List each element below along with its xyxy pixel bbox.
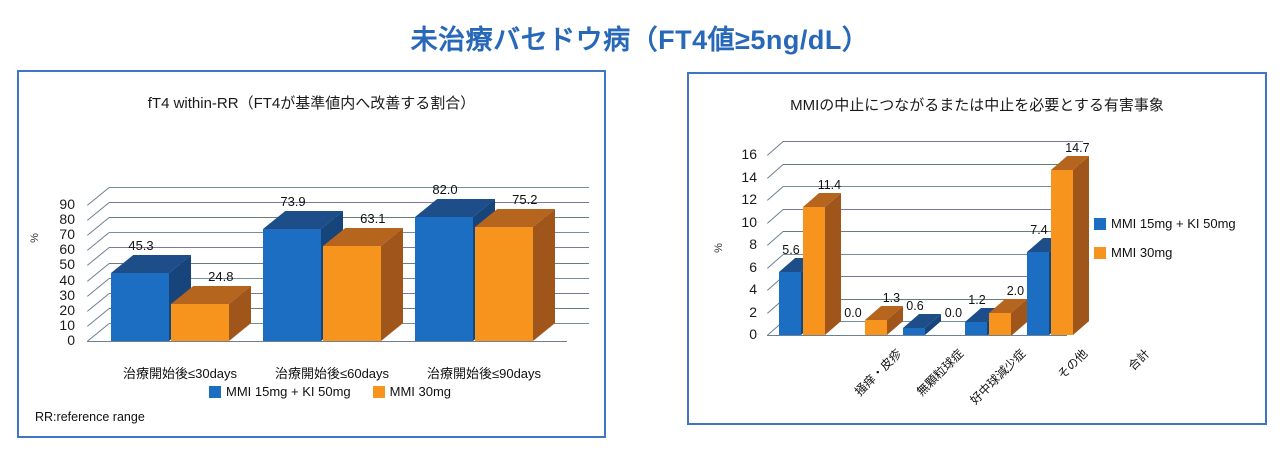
bar-mmi-discontinuation-ae-0-0 bbox=[779, 258, 801, 335]
bar-value-label: 63.1 bbox=[337, 211, 409, 226]
y-tick-label: 4 bbox=[717, 281, 757, 297]
axis-depth-line bbox=[767, 141, 784, 156]
axis-depth-line bbox=[87, 323, 110, 342]
bar-value-label: 24.8 bbox=[185, 269, 257, 284]
left-chart-plot-area: 010203040506070809045.324.8治療開始後≤30days7… bbox=[19, 72, 604, 436]
bar-ft4-within-rr-1-1 bbox=[323, 228, 381, 341]
legend-label-mmi-ki: MMI 15mg + KI 50mg bbox=[1111, 216, 1236, 231]
y-tick-label: 80 bbox=[35, 211, 75, 227]
bar-front-face bbox=[965, 322, 987, 336]
bar-value-label: 11.4 bbox=[811, 178, 847, 192]
y-tick-label: 12 bbox=[717, 191, 757, 207]
bar-mmi-discontinuation-ae-2-0 bbox=[903, 314, 925, 335]
grid-line bbox=[109, 187, 589, 188]
bar-value-label: 0.6 bbox=[897, 299, 933, 313]
bar-value-label: 75.2 bbox=[489, 192, 561, 207]
y-tick-label: 40 bbox=[35, 272, 75, 288]
bar-value-label: 73.9 bbox=[257, 194, 329, 209]
bar-front-face bbox=[475, 227, 533, 341]
bar-ft4-within-rr-0-1 bbox=[171, 286, 229, 341]
bar-ft4-within-rr-2-1 bbox=[475, 209, 533, 341]
y-tick-label: 0 bbox=[35, 332, 75, 348]
y-tick-label: 2 bbox=[717, 304, 757, 320]
legend-swatch-mmi-ki bbox=[209, 386, 221, 398]
bar-ft4-within-rr-0-0 bbox=[111, 255, 169, 341]
bar-mmi-discontinuation-ae-4-1 bbox=[1051, 156, 1073, 335]
bar-ft4-within-rr-1-0 bbox=[263, 211, 321, 341]
left-chart-legend: MMI 15mg + KI 50mg MMI 30mg bbox=[209, 384, 451, 399]
y-tick-label: 10 bbox=[35, 317, 75, 333]
bar-mmi-discontinuation-ae-1-0 bbox=[841, 321, 863, 335]
legend-swatch-mmi30 bbox=[373, 386, 385, 398]
bar-value-label: 45.3 bbox=[105, 238, 177, 253]
legend-label-mmi30: MMI 30mg bbox=[390, 384, 451, 399]
legend-label-mmi-ki: MMI 15mg + KI 50mg bbox=[226, 384, 351, 399]
bar-mmi-discontinuation-ae-1-1 bbox=[865, 306, 887, 335]
axis-baseline bbox=[87, 341, 567, 342]
y-tick-label: 0 bbox=[717, 326, 757, 342]
y-tick-label: 60 bbox=[35, 241, 75, 257]
axis-depth-line bbox=[767, 164, 784, 179]
bar-front-face bbox=[111, 273, 169, 341]
bar-value-label: 82.0 bbox=[409, 182, 481, 197]
axis-depth-line bbox=[767, 209, 784, 224]
bar-side-face bbox=[1073, 156, 1089, 335]
bar-mmi-discontinuation-ae-4-0 bbox=[1027, 238, 1049, 335]
page-title: 未治療バセドウ病（FT4値≥5ng/dL） bbox=[0, 18, 1280, 57]
bar-front-face bbox=[903, 328, 925, 335]
y-tick-label: 14 bbox=[717, 169, 757, 185]
bar-front-face bbox=[1027, 252, 1049, 335]
y-tick-label: 90 bbox=[35, 196, 75, 212]
axis-depth-line bbox=[767, 186, 784, 201]
y-tick-label: 70 bbox=[35, 226, 75, 242]
bar-mmi-discontinuation-ae-2-1 bbox=[927, 321, 949, 335]
bar-front-face bbox=[865, 320, 887, 335]
bar-front-face bbox=[989, 313, 1011, 336]
right-chart-panel: MMIの中止につながるまたは中止を必要とする有害事象 % 02468101214… bbox=[687, 72, 1267, 425]
y-tick-label: 6 bbox=[717, 259, 757, 275]
legend-item-mmi-ki: MMI 15mg + KI 50mg bbox=[209, 384, 351, 399]
bar-ft4-within-rr-2-0 bbox=[415, 199, 473, 341]
legend-item-mmi30: MMI 30mg bbox=[373, 384, 451, 399]
bar-front-face bbox=[323, 246, 381, 341]
left-chart-footnote: RR:reference range bbox=[35, 410, 145, 424]
y-tick-label: 50 bbox=[35, 256, 75, 272]
grid-line bbox=[783, 164, 1083, 165]
bar-front-face bbox=[1051, 170, 1073, 335]
bar-side-face bbox=[533, 210, 555, 341]
axis-baseline bbox=[767, 335, 1067, 336]
y-tick-label: 30 bbox=[35, 287, 75, 303]
bar-value-label: 14.7 bbox=[1059, 141, 1095, 155]
bar-front-face bbox=[803, 207, 825, 335]
bar-side-face bbox=[381, 228, 403, 341]
y-tick-label: 20 bbox=[35, 302, 75, 318]
x-category-label: 治療開始後≤90days bbox=[393, 363, 575, 382]
left-chart-panel: fT4 within-RR（FT4が基準値内へ改善する割合） % 0102030… bbox=[17, 70, 606, 438]
legend-swatch-mmi-ki bbox=[1094, 218, 1106, 230]
y-tick-label: 16 bbox=[717, 146, 757, 162]
grid-line bbox=[783, 141, 1083, 142]
bar-front-face bbox=[171, 304, 229, 341]
y-tick-label: 8 bbox=[717, 236, 757, 252]
bar-front-face bbox=[263, 229, 321, 341]
bar-mmi-discontinuation-ae-0-1 bbox=[803, 193, 825, 335]
bar-mmi-discontinuation-ae-3-0 bbox=[965, 308, 987, 336]
right-chart-legend: MMI 15mg + KI 50mg MMI 30mg bbox=[1094, 216, 1236, 260]
legend-item-mmi-ki: MMI 15mg + KI 50mg bbox=[1094, 216, 1236, 231]
y-tick-label: 10 bbox=[717, 214, 757, 230]
legend-label-mmi30: MMI 30mg bbox=[1111, 245, 1172, 260]
legend-swatch-mmi30 bbox=[1094, 247, 1106, 259]
bar-front-face bbox=[415, 217, 473, 341]
bar-mmi-discontinuation-ae-3-1 bbox=[989, 299, 1011, 336]
legend-item-mmi30: MMI 30mg bbox=[1094, 245, 1172, 260]
bar-front-face bbox=[779, 272, 801, 335]
